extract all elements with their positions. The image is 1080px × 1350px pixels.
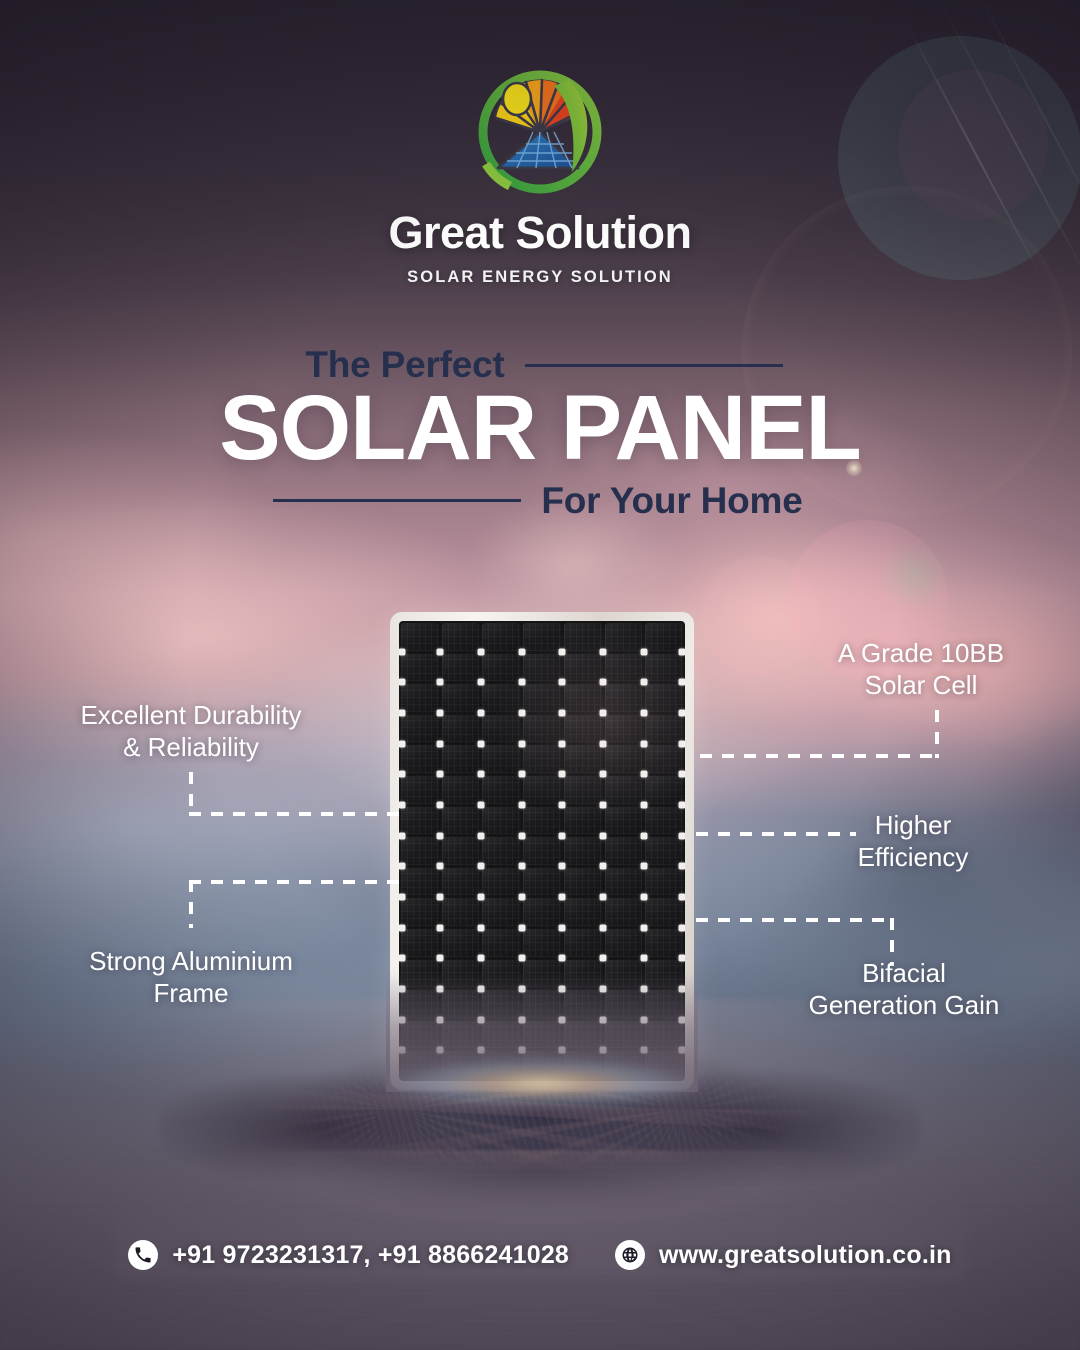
feature-label-a-grade: A Grade 10BB Solar Cell bbox=[808, 638, 1034, 701]
feature-bifacial-line2: Generation Gain bbox=[772, 990, 1036, 1022]
feature-label-frame: Strong Aluminium Frame bbox=[56, 946, 326, 1009]
feature-efficiency-line1: Higher bbox=[820, 810, 1006, 842]
contact-website-text: www.greatsolution.co.in bbox=[659, 1241, 952, 1270]
contact-footer: +91 9723231317, +91 8866241028 www.great… bbox=[0, 1240, 1080, 1270]
phone-icon bbox=[128, 1240, 158, 1270]
feature-frame-line1: Strong Aluminium bbox=[56, 946, 326, 978]
feature-label-durability: Excellent Durability & Reliability bbox=[56, 700, 326, 763]
contact-phone-text: +91 9723231317, +91 8866241028 bbox=[172, 1241, 569, 1270]
feature-label-efficiency: Higher Efficiency bbox=[820, 810, 1006, 873]
feature-label-bifacial: Bifacial Generation Gain bbox=[772, 958, 1036, 1021]
feature-durability-line2: & Reliability bbox=[56, 732, 326, 764]
feature-efficiency-line2: Efficiency bbox=[820, 842, 1006, 874]
feature-agrade-line2: Solar Cell bbox=[808, 670, 1034, 702]
feature-agrade-line1: A Grade 10BB bbox=[808, 638, 1034, 670]
poster-canvas: Great Solution SOLAR ENERGY SOLUTION The… bbox=[0, 0, 1080, 1350]
globe-icon bbox=[615, 1240, 645, 1270]
feature-frame-line2: Frame bbox=[56, 978, 326, 1010]
contact-website[interactable]: www.greatsolution.co.in bbox=[615, 1240, 952, 1270]
feature-bifacial-line1: Bifacial bbox=[772, 958, 1036, 990]
contact-phone[interactable]: +91 9723231317, +91 8866241028 bbox=[128, 1240, 569, 1270]
feature-durability-line1: Excellent Durability bbox=[56, 700, 326, 732]
